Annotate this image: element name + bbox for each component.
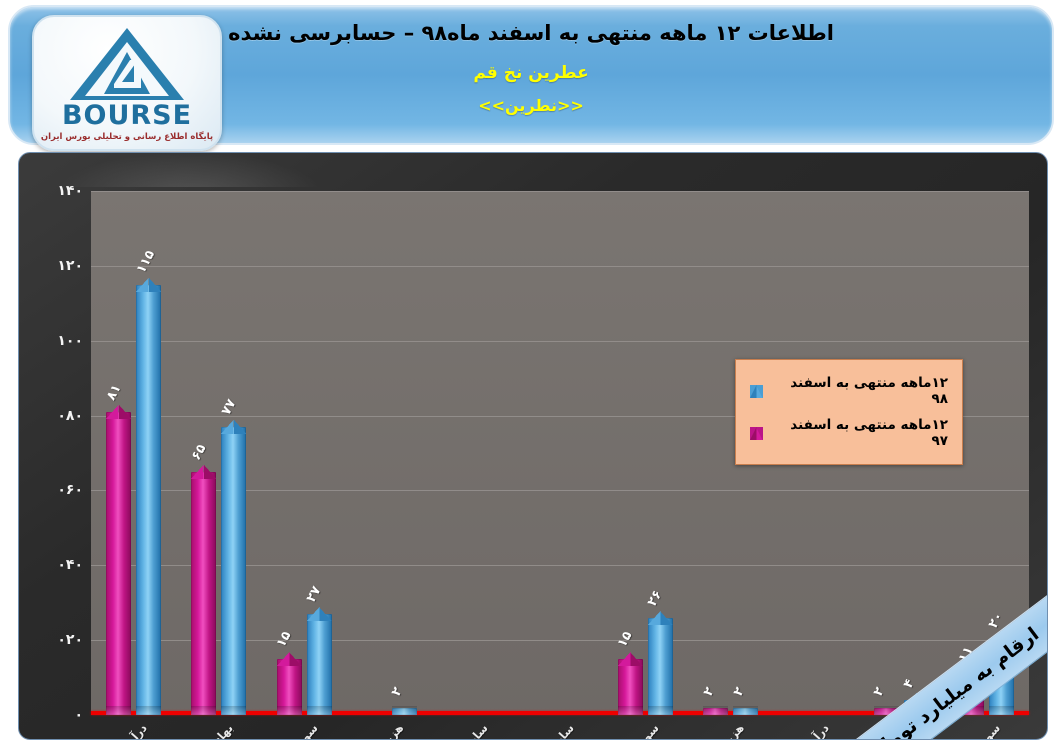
y-tick-label: ۰۸۰ [57, 408, 83, 424]
bar-base-shading [191, 706, 216, 715]
bar-base-shading [874, 706, 899, 715]
bar-value-label: ۷۷ [219, 397, 240, 418]
bar-group[interactable]: ۲ [347, 191, 432, 715]
bar-base-shading [904, 706, 929, 715]
bar-top-bevel [989, 633, 1014, 647]
bar-value-label: ۲۰ [986, 610, 1007, 631]
bar-value-label: ۸۱ [103, 382, 124, 403]
bar-value-label: ۲۷ [304, 584, 325, 605]
bar-group[interactable] [517, 191, 602, 715]
x-tick-label: سود(زیان)ناخالص [242, 721, 320, 740]
y-tick-label: ۰۶۰ [57, 482, 83, 498]
y-tick-label: ۱۰۰ [57, 333, 83, 349]
company-symbol: <<نطرین>> [478, 96, 584, 115]
bar-top-bevel [648, 611, 673, 625]
bar-group[interactable]: ۲۶۱۵ [603, 191, 688, 715]
bar[interactable]: ۱۵ [618, 659, 643, 715]
bar-value-label: ۴ [901, 677, 918, 691]
bar[interactable]: ۲۶ [648, 618, 673, 715]
bar-base-shading [648, 706, 673, 715]
bar-top-bevel [959, 667, 984, 681]
bar-base-shading [733, 706, 758, 715]
bar[interactable]: ۲ [392, 708, 417, 715]
x-axis-labels: درآمد عملیاتیبهای تمام شدهسود(زیان)ناخال… [91, 719, 1029, 740]
y-axis: ۰۰۲۰۰۴۰۰۶۰۰۸۰۱۰۰۱۲۰۱۴۰ [19, 191, 91, 715]
bar-top-bevel [904, 693, 929, 707]
bar-base-shading [136, 706, 161, 715]
legend-entry[interactable]: ۱۲ماهه منتهی به اسفند ۹۷ [748, 412, 950, 454]
legend-swatch-icon [750, 385, 763, 398]
x-tick-label: سود(زیان)عملیاتی [581, 721, 662, 740]
bar-value-label: ۲ [730, 684, 747, 698]
bar-value-label: ۲ [389, 684, 406, 698]
bar-value-label: ۱۱۵ [133, 248, 157, 276]
y-tick-label: ۱۴۰ [57, 183, 83, 199]
bar-base-shading [106, 706, 131, 715]
bar-group[interactable]: ۱۱۵۸۱ [91, 191, 176, 715]
page-title: اطلاعات ۱۲ ماهه منتهی به اسفند ماه۹۸ – ح… [228, 21, 834, 45]
bar-base-shading [277, 706, 302, 715]
bar[interactable]: ۲ [703, 708, 728, 715]
bar-value-label: ۲۶ [645, 588, 666, 609]
bar-value-label: ۲ [700, 684, 717, 698]
header-panel: اطلاعات ۱۲ ماهه منتهی به اسفند ماه۹۸ – ح… [8, 5, 1054, 145]
bar-base-shading [618, 706, 643, 715]
bar-value-label: ۱۵ [615, 629, 636, 650]
x-tick-label: درآمد عملیاتی [86, 721, 150, 740]
panel-watermark [69, 157, 369, 183]
chart-legend: ۱۲ماهه منتهی به اسفند ۹۸۱۲ماهه منتهی به … [735, 359, 963, 465]
x-tick-label: هزینه های مالی [677, 721, 747, 740]
company-name: عطرین نخ قم [473, 63, 588, 83]
y-tick-label: ۱۲۰ [57, 258, 83, 274]
x-tick-label: مالیات [883, 721, 918, 740]
bar-value-label: ۱۵ [274, 629, 295, 650]
bar-top-bevel [307, 607, 332, 621]
bar-top-bevel [618, 652, 643, 666]
legend-label: ۱۲ماهه منتهی به اسفند ۹۸ [771, 375, 948, 407]
bar-top-bevel [277, 652, 302, 666]
legend-entry[interactable]: ۱۲ماهه منتهی به اسفند ۹۸ [748, 370, 950, 412]
y-tick-label: ۰۲۰ [57, 632, 83, 648]
bar[interactable]: ۲ [733, 708, 758, 715]
bar-group[interactable]: ۷۷۶۵ [176, 191, 261, 715]
y-tick-label: ۰۴۰ [57, 557, 83, 573]
legend-label: ۱۲ماهه منتهی به اسفند ۹۷ [771, 417, 948, 449]
bar[interactable]: ۷۷ [221, 427, 246, 715]
bourse24-logo: BOURSE پایگاه اطلاع رسانی و تحلیلی بورس … [32, 15, 222, 151]
x-tick-label: بهای تمام شده [169, 721, 236, 740]
bar[interactable]: ۲ [874, 708, 899, 715]
bar[interactable]: ۲۷ [307, 614, 332, 715]
logo-tagline: پایگاه اطلاع رسانی و تحلیلی بورس ایران [41, 132, 213, 142]
logo-triangle-icon [68, 26, 186, 106]
bar-base-shading [959, 706, 984, 715]
bar-base-shading [703, 706, 728, 715]
bar-value-label: ۶۵ [189, 442, 210, 463]
bar[interactable]: ۶۵ [191, 472, 216, 715]
bar-base-shading [307, 706, 332, 715]
logo-wordmark: BOURSE [62, 102, 192, 129]
bar-group[interactable] [432, 191, 517, 715]
bar-value-label: ۲ [871, 684, 888, 698]
bar-top-bevel [136, 278, 161, 292]
bar-base-shading [392, 706, 417, 715]
bar[interactable]: ۱۱ [959, 674, 984, 715]
bar-base-shading [221, 706, 246, 715]
bar[interactable]: ۸۱ [106, 412, 131, 715]
x-tick-label: هزینه عمومی و اداری [313, 721, 406, 740]
x-tick-label: سود(زیان) خالص [928, 721, 1003, 740]
bar-value-label: ۱۱ [956, 644, 977, 665]
bar[interactable]: ۱۱۵ [136, 285, 161, 715]
bar-top-bevel [191, 465, 216, 479]
bar[interactable]: ۲۰ [989, 640, 1014, 715]
slide-root: اطلاعات ۱۲ ماهه منتهی به اسفند ماه۹۸ – ح… [0, 0, 1062, 755]
bar[interactable]: ۴ [904, 700, 929, 715]
bar-top-bevel [106, 405, 131, 419]
bar-group[interactable]: ۲۷۱۵ [262, 191, 347, 715]
legend-swatch-icon [750, 427, 763, 440]
chart-panel: ۰۰۲۰۰۴۰۰۶۰۰۸۰۱۰۰۱۲۰۱۴۰ ۱۱۵۸۱۷۷۶۵۲۷۱۵۲۲۶۱… [18, 152, 1048, 740]
y-tick-label: ۰ [74, 707, 83, 723]
bar[interactable]: ۱۵ [277, 659, 302, 715]
bar-top-bevel [221, 420, 246, 434]
bar-base-shading [989, 706, 1014, 715]
x-tick-label: سایر درآمدهای عملیاتی [477, 721, 577, 740]
